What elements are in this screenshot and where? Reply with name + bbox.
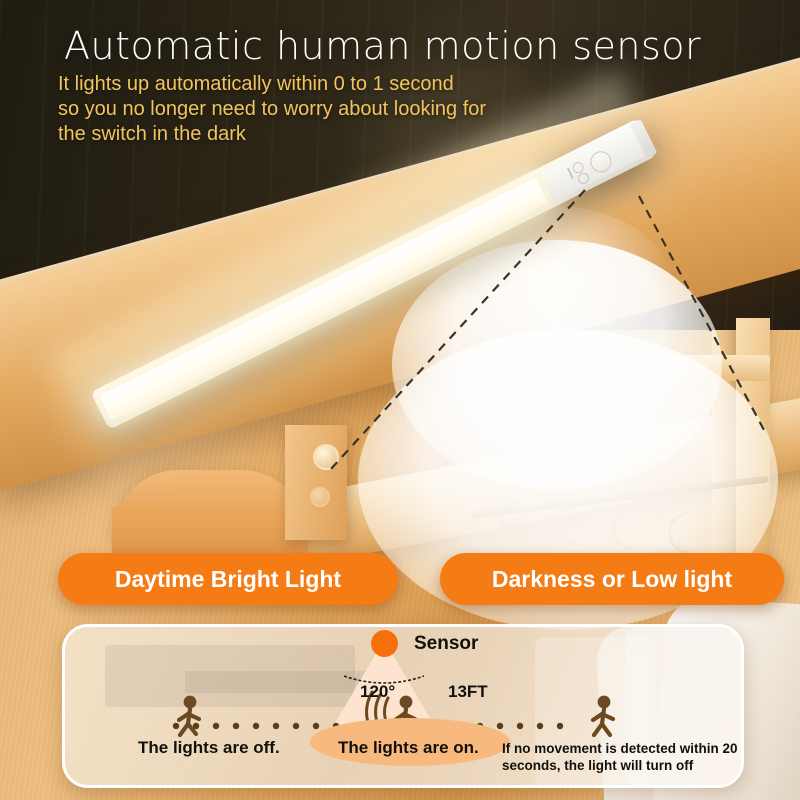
- lights-on-label: The lights are on.: [338, 738, 479, 758]
- lights-off-label: The lights are off.: [138, 738, 280, 758]
- product-infographic: Automatic human motion sensor It lights …: [0, 0, 800, 800]
- sensor-label: Sensor: [414, 633, 478, 655]
- range-label: 13FT: [448, 682, 488, 702]
- figure-walker-right: [593, 696, 613, 735]
- sensor-dot-icon: [371, 630, 398, 657]
- detection-cone-graphics: [0, 0, 800, 800]
- angle-label: 120°: [360, 682, 395, 702]
- timeout-note: If no movement is detected within 20 sec…: [502, 740, 742, 774]
